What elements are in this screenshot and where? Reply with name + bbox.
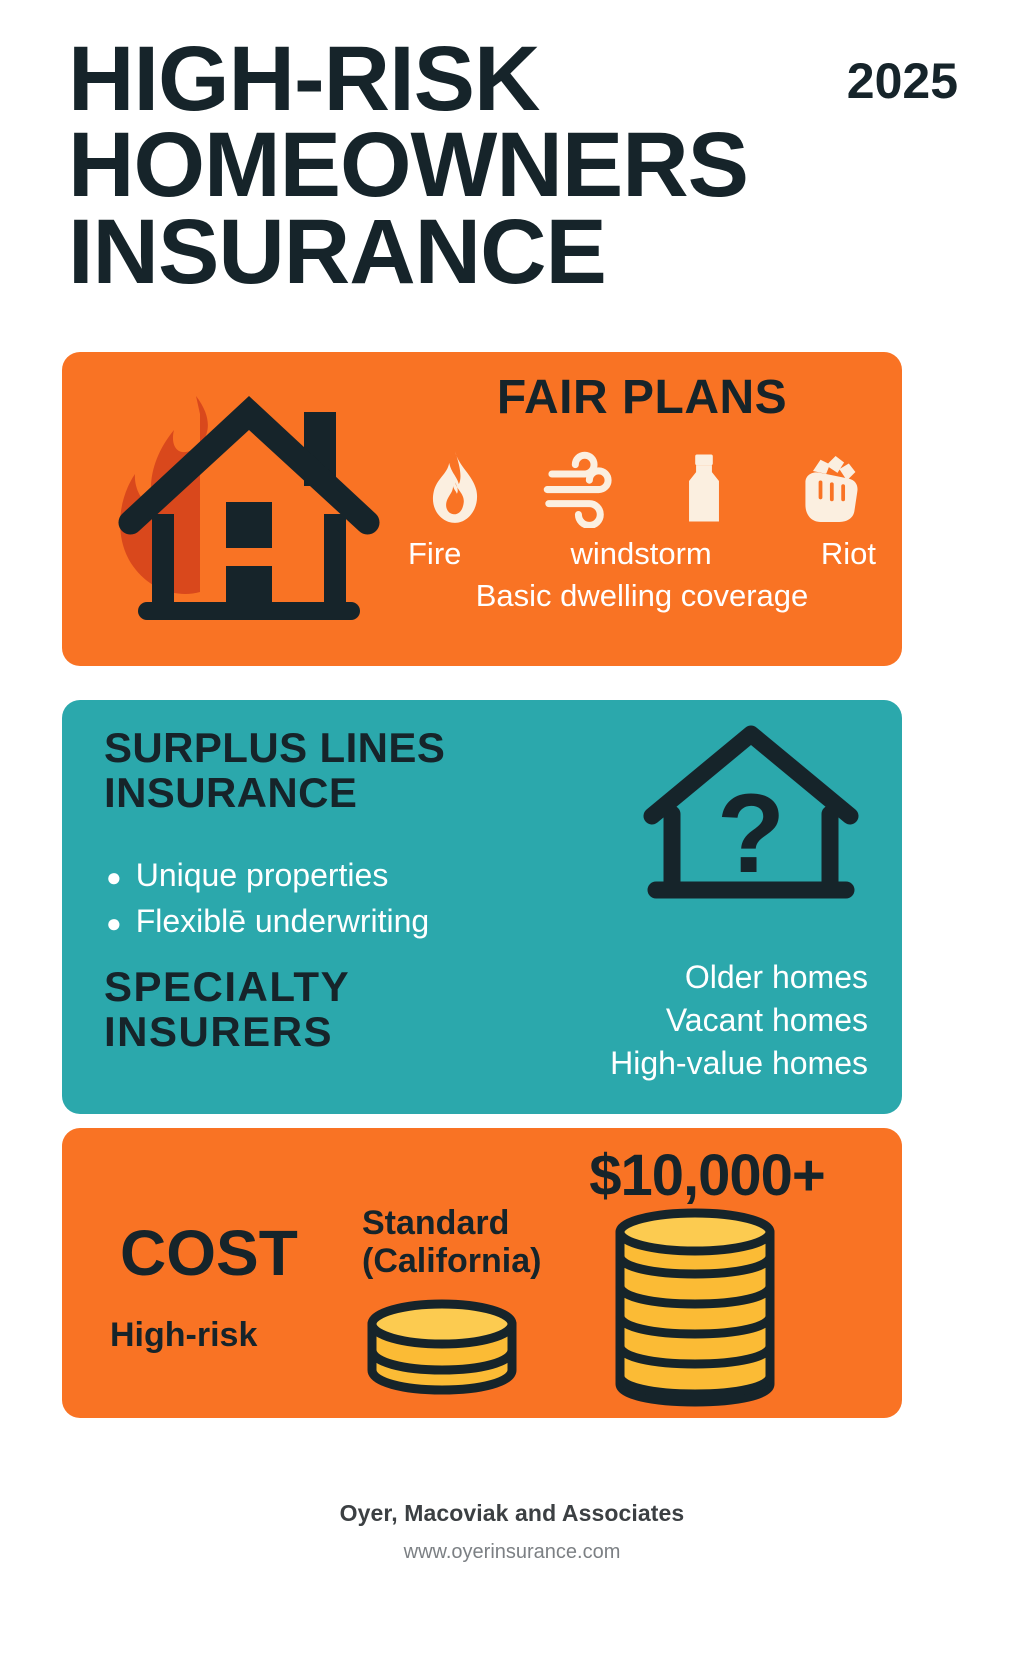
year-badge: 2025 bbox=[847, 52, 958, 110]
specialty-heading-line-1: SPECIALTY bbox=[104, 965, 350, 1010]
surplus-heading-line-2: INSURANCE bbox=[104, 771, 445, 816]
standard-label-line-2: (California) bbox=[362, 1242, 592, 1280]
home-type-item: High-value homes bbox=[528, 1042, 868, 1085]
list-item: ● Unique properties bbox=[106, 852, 576, 898]
standard-label: Standard (California) bbox=[362, 1204, 592, 1280]
specialty-heading-line-2: INSURERS bbox=[104, 1010, 350, 1055]
peril-label-fire: Fire bbox=[408, 536, 461, 572]
home-type-item: Older homes bbox=[528, 956, 868, 999]
fair-plans-heading: FAIR PLANS bbox=[402, 374, 882, 422]
high-risk-label: High-risk bbox=[110, 1316, 257, 1355]
flame-icon bbox=[416, 440, 494, 528]
coin-stack-large-icon bbox=[610, 1208, 780, 1408]
raised-fist-icon bbox=[790, 440, 868, 528]
svg-text:?: ? bbox=[717, 771, 785, 896]
surplus-heading-line-1: SURPLUS LINES bbox=[104, 726, 445, 771]
title-line-3: INSURANCE bbox=[68, 209, 958, 295]
cost-amount: $10,000+ bbox=[542, 1142, 872, 1209]
fair-plans-subtitle: Basic dwelling coverage bbox=[402, 578, 882, 614]
title-line-2: HOMEOWNERS bbox=[68, 122, 958, 208]
header: HIGH-RISK HOMEOWNERS INSURANCE 2025 bbox=[68, 36, 958, 295]
peril-label-riot: Riot bbox=[821, 536, 876, 572]
bullet-dot-icon: ● bbox=[106, 864, 122, 890]
water-bottle-icon bbox=[665, 440, 743, 528]
cost-panel: COST High-risk Standard (California) $10… bbox=[62, 1128, 902, 1418]
peril-label-row: Fire windstorm Riot bbox=[402, 536, 882, 572]
fair-plans-panel: FAIR PLANS bbox=[62, 352, 902, 666]
house-question-mark-icon: ? bbox=[636, 720, 866, 910]
footer-website-url: www.oyerinsurance.com bbox=[0, 1541, 1024, 1564]
surplus-bullet-list: ● Unique properties ● Flexiblē underwrit… bbox=[106, 852, 576, 945]
home-type-item: Vacant homes bbox=[528, 999, 868, 1042]
bullet-label: Flexiblē underwriting bbox=[136, 898, 429, 944]
page-title: HIGH-RISK HOMEOWNERS INSURANCE 2025 bbox=[68, 36, 958, 295]
specialty-insurers-heading: SPECIALTY INSURERS bbox=[104, 965, 350, 1054]
standard-label-line-1: Standard bbox=[362, 1204, 592, 1242]
home-types-list: Older homes Vacant homes High-value home… bbox=[528, 956, 868, 1086]
title-line-1: HIGH-RISK bbox=[68, 36, 958, 122]
footer-company-name: Oyer, Macoviak and Associates bbox=[0, 1500, 1024, 1527]
bullet-label: Unique properties bbox=[136, 852, 389, 898]
footer: Oyer, Macoviak and Associates www.oyerin… bbox=[0, 1500, 1024, 1564]
infographic-page: HIGH-RISK HOMEOWNERS INSURANCE 2025 bbox=[0, 0, 1024, 1666]
cost-label: COST bbox=[120, 1216, 298, 1290]
peril-icon-row bbox=[402, 440, 882, 528]
surplus-lines-heading: SURPLUS LINES INSURANCE bbox=[104, 726, 445, 815]
surplus-lines-panel: SURPLUS LINES INSURANCE ● Unique propert… bbox=[62, 700, 902, 1114]
bullet-dot-icon: ● bbox=[106, 910, 122, 936]
house-on-fire-icon bbox=[104, 374, 394, 634]
wind-icon bbox=[541, 440, 619, 528]
list-item: ● Flexiblē underwriting bbox=[106, 898, 576, 944]
peril-label-windstorm: windstorm bbox=[570, 536, 711, 572]
coin-stack-small-icon bbox=[362, 1298, 522, 1402]
fair-plans-content: FAIR PLANS bbox=[402, 374, 882, 614]
